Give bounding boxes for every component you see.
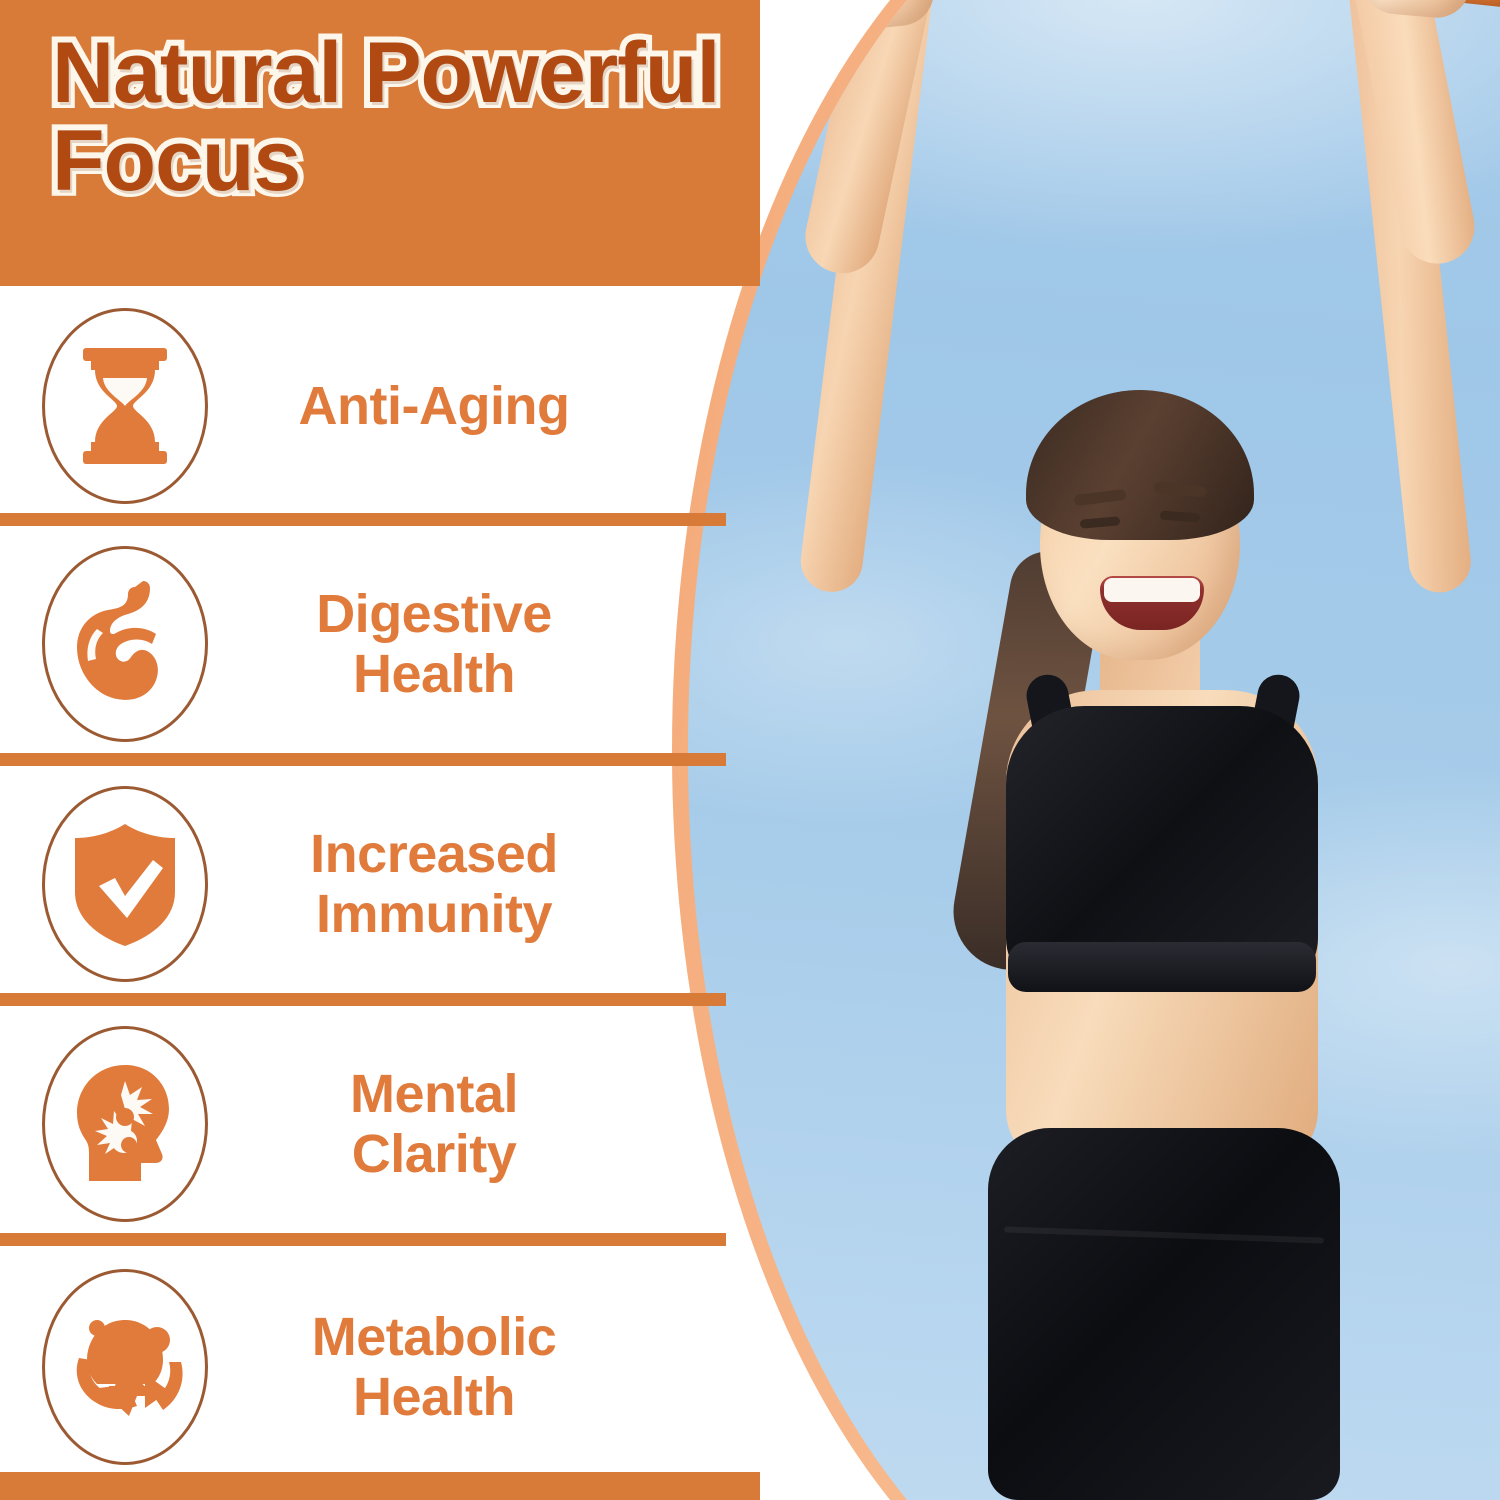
infographic-root: Natural Powerful Focus Anti-Agin <box>0 0 1500 1500</box>
metabolism-icon <box>42 1269 208 1465</box>
feature-label: Digestive Health <box>208 584 700 705</box>
feature-label: Increased Immunity <box>208 824 700 945</box>
feature-row-increased-immunity[interactable]: Increased Immunity <box>0 778 700 990</box>
feature-row-anti-aging[interactable]: Anti-Aging <box>0 300 700 512</box>
hair <box>1026 390 1254 540</box>
feature-label: Mental Clarity <box>208 1064 700 1185</box>
header-band: Natural Powerful Focus <box>0 0 760 286</box>
page-title: Natural Powerful Focus <box>52 30 752 205</box>
feature-label: Anti-Aging <box>208 376 700 436</box>
feature-row-mental-clarity[interactable]: Mental Clarity <box>0 1018 700 1230</box>
teeth <box>1104 578 1200 602</box>
head-brain-icon <box>42 1026 208 1222</box>
feature-label: Metabolic Health <box>208 1307 700 1428</box>
leggings <box>988 1128 1340 1500</box>
woman-figure <box>688 0 1500 1500</box>
hero-photo <box>688 0 1500 1500</box>
sky-background <box>688 0 1500 1500</box>
sports-bra-band <box>1008 942 1316 992</box>
feature-row-metabolic-health[interactable]: Metabolic Health <box>0 1261 700 1473</box>
shield-check-icon <box>42 786 208 982</box>
bottom-band <box>0 1472 760 1500</box>
row-divider <box>0 1233 726 1246</box>
hourglass-icon <box>42 308 208 504</box>
feature-row-digestive-health[interactable]: Digestive Health <box>0 538 700 750</box>
row-divider <box>0 753 726 766</box>
feature-list: Anti-Aging Digestive Health Increased <box>0 286 760 1472</box>
stomach-icon <box>42 546 208 742</box>
row-divider <box>0 993 726 1006</box>
row-divider <box>0 513 726 526</box>
forearm-left <box>799 0 940 280</box>
